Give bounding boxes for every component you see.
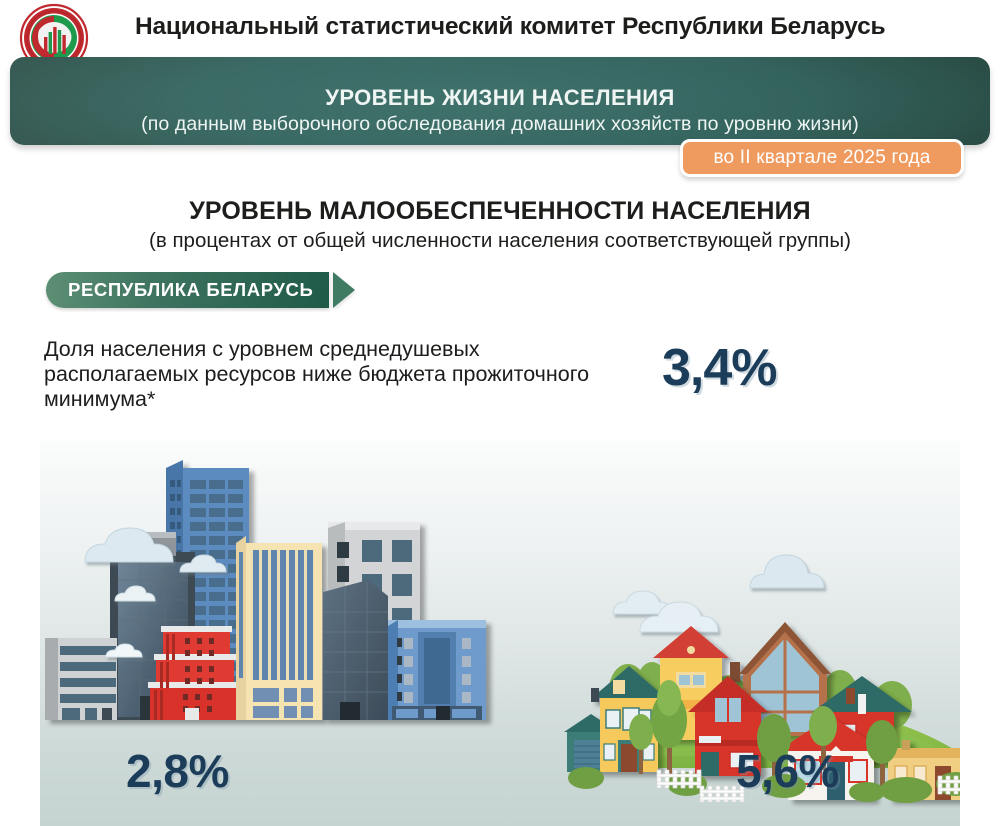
region-tag-group: РЕСПУБЛИКА БЕЛАРУСЬ <box>46 272 355 308</box>
section-subtitle: (в процентах от общей численности населе… <box>0 229 1000 253</box>
indicator-value: 3,4% <box>662 338 777 398</box>
building-dark-glass-right <box>323 580 388 720</box>
banner-title: УРОВЕНЬ ЖИЗНИ НАСЕЛЕНИЯ <box>10 85 990 111</box>
urban-value: 2,8% <box>126 744 229 798</box>
arrow-right-icon <box>333 272 355 308</box>
city-buildings <box>45 460 486 720</box>
rural-value: 5,6% <box>736 744 839 798</box>
organization-title: Национальный статистический комитет Респ… <box>135 13 885 41</box>
section-title: УРОВЕНЬ МАЛООБЕСПЕЧЕННОСТИ НАСЕЛЕНИЯ <box>0 197 1000 226</box>
building-blue-residential <box>388 620 486 720</box>
indicator-label: Доля населения с уровнем среднедушевых р… <box>44 337 624 412</box>
building-striped-left <box>45 638 117 720</box>
banner-subtitle: (по данным выборочного обследования дома… <box>10 113 990 136</box>
period-badge: во II квартале 2025 года <box>680 139 964 177</box>
main-banner: УРОВЕНЬ ЖИЗНИ НАСЕЛЕНИЯ (по данным выбор… <box>10 57 990 145</box>
header-bar: НАЦЫЯНАЛЬНЫ СТАТЫСТЫЧНЫ КАМIТЭТ Национал… <box>0 0 1000 58</box>
region-tag-label: РЕСПУБЛИКА БЕЛАРУСЬ <box>46 272 329 308</box>
cloud <box>750 555 824 588</box>
building-cream-tower <box>236 536 322 720</box>
